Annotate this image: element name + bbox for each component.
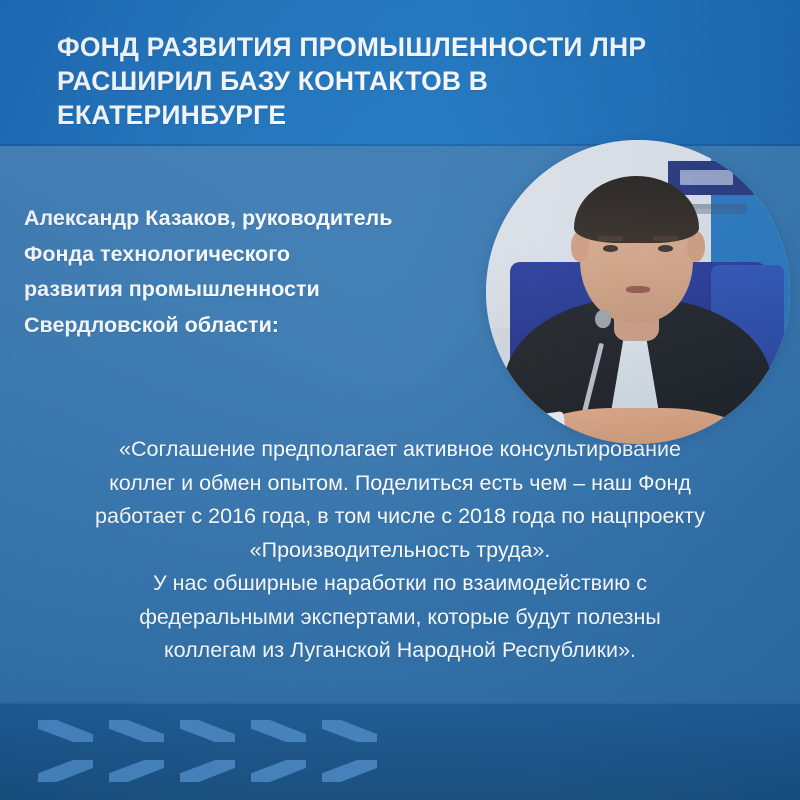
main-content-area: Александр Казаков, руководитель Фонда те… [0,146,800,702]
chevron-right-icon [180,716,235,786]
tass-logo-icon [668,161,753,194]
footer-band [0,702,800,800]
chevron-right-icon [38,716,93,786]
person-eye-left [603,245,618,252]
page-title: ФОНД РАЗВИТИЯ ПРОМЫШЛЕННОСТИ ЛНР РАСШИРИ… [57,30,757,132]
quote-text: «Соглашение предполагает активное консул… [26,433,774,668]
speaker-attribution: Александр Казаков, руководитель Фонда те… [24,201,524,343]
person-brow-left [598,236,622,241]
person-mouth [626,286,650,293]
chevron-right-icon [322,716,377,786]
person-brow-right [653,236,677,241]
microphone-head-icon [595,310,610,328]
person-eye-right [658,245,673,252]
header-band: ФОНД РАЗВИТИЯ ПРОМЫШЛЕННОСТИ ЛНР РАСШИРИ… [0,0,800,146]
avatar [486,140,790,444]
chevron-group [38,716,377,786]
portrait-photo [486,140,790,444]
chevron-right-icon [109,716,164,786]
chevron-right-icon [251,716,306,786]
poster-canvas: ФОНД РАЗВИТИЯ ПРОМЫШЛЕННОСТИ ЛНР РАСШИРИ… [0,0,800,800]
